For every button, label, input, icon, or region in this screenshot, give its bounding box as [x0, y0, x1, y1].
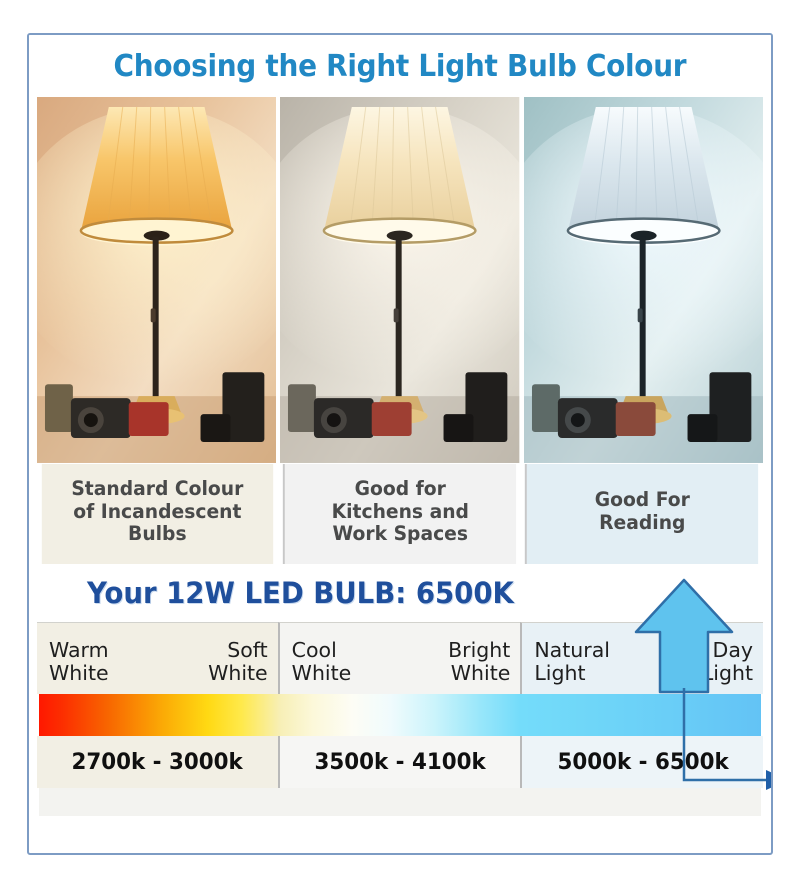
lamp-illustration-cool	[524, 97, 763, 463]
label-day-light: DayLight	[702, 639, 753, 685]
caption-row: Standard Colour of Incandescent Bulbs Go…	[29, 464, 771, 564]
label-warm-white: WarmWhite	[49, 639, 109, 685]
label-cool-white: CoolWhite	[292, 639, 352, 685]
photo-day-light	[524, 97, 763, 464]
kelvin-value: 2700k - 3000k	[72, 749, 243, 775]
infographic-card: Choosing the Right Light Bulb Colour	[27, 33, 773, 855]
caption-warm-white: Standard Colour of Incandescent Bulbs	[42, 464, 273, 564]
kelvin-value: 3500k - 4100k	[314, 749, 485, 775]
caption-line: Bulbs	[128, 522, 187, 545]
label-soft-white: SoftWhite	[208, 639, 268, 685]
photo-strip	[29, 97, 771, 464]
scale-labels-cool-white: CoolWhite BrightWhite	[278, 622, 521, 694]
label-bright-white: BrightWhite	[448, 639, 510, 685]
gradient-segment-neutral	[280, 694, 521, 736]
photo-cool-white	[280, 97, 519, 464]
caption-line: Kitchens and	[331, 500, 468, 523]
caption-line: Good for	[354, 477, 445, 500]
scale-labels-day-light: NaturalLight DayLight	[520, 622, 763, 694]
colour-temperature-gradient-bar	[39, 694, 761, 736]
kelvin-range-warm-white: 2700k - 3000k	[37, 736, 278, 788]
led-banner: Your 12W LED BULB: 6500K	[29, 564, 771, 622]
kelvin-range-cool-white: 3500k - 4100k	[278, 736, 521, 788]
caption-line: Work Spaces	[332, 522, 467, 545]
title-bar: Choosing the Right Light Bulb Colour	[29, 35, 771, 97]
caption-line: Standard Colour	[71, 477, 243, 500]
lamp-illustration-warm	[37, 97, 276, 463]
kelvin-range-row: 2700k - 3000k 3500k - 4100k 5000k - 6500…	[37, 736, 763, 788]
gradient-segment-cool	[520, 694, 761, 736]
colour-temperature-scale: WarmWhite SoftWhite CoolWhite BrightWhit…	[29, 622, 771, 816]
kelvin-value: 5000k - 6500k	[557, 749, 728, 775]
kelvin-range-day-light: 5000k - 6500k	[520, 736, 763, 788]
caption-cool-white: Good for Kitchens and Work Spaces	[283, 464, 516, 564]
caption-line: Good For	[595, 488, 690, 511]
photo-warm-white	[37, 97, 276, 464]
lamp-illustration-neutral	[280, 97, 519, 463]
scale-labels-warm-white: WarmWhite SoftWhite	[37, 622, 278, 694]
caption-line: Reading	[599, 511, 685, 534]
scale-label-row: WarmWhite SoftWhite CoolWhite BrightWhit…	[37, 622, 763, 694]
caption-day-light: Good For Reading	[525, 464, 758, 564]
led-bulb-value: Your 12W LED BULB: 6500K	[87, 576, 514, 610]
page-title: Choosing the Right Light Bulb Colour	[114, 49, 687, 84]
caption-line: of Incandescent	[73, 500, 241, 523]
scale-footer-strip	[39, 788, 761, 816]
label-natural-light: NaturalLight	[534, 639, 610, 685]
gradient-segment-warm	[39, 694, 280, 736]
